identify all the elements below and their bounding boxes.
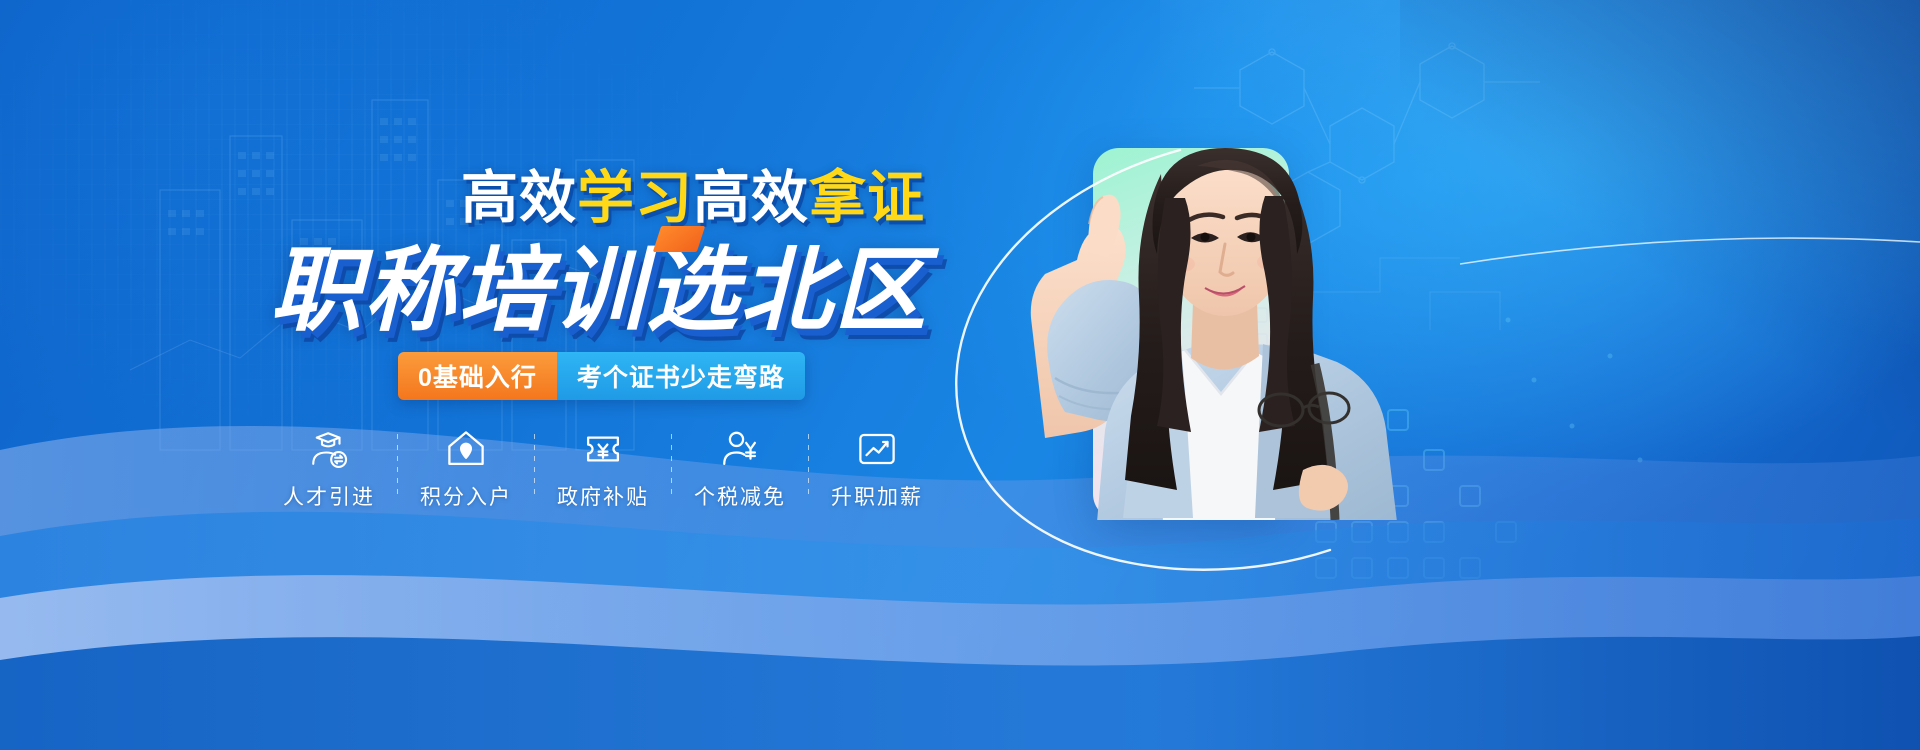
graduate-exchange-icon xyxy=(308,428,350,470)
orange-accent-mark xyxy=(653,226,705,252)
model-photo xyxy=(985,78,1405,538)
feature-label-4: 升职加薪 xyxy=(831,481,923,511)
growth-chart-icon xyxy=(856,428,898,470)
copy-block: 高效学习高效拿证 职称培训选北区 0基础入行 考个证书少走弯路 xyxy=(0,0,1000,750)
feature-divider-0 xyxy=(397,434,398,500)
feature-divider-1 xyxy=(534,434,535,500)
feature-item-2[interactable]: 政府补贴 xyxy=(536,428,670,511)
feature-label-3: 个税减免 xyxy=(694,481,786,511)
feature-label-0: 人才引进 xyxy=(283,481,375,511)
badge-primary: 0基础入行 xyxy=(398,352,557,400)
feature-item-3[interactable]: 个税减免 xyxy=(673,428,807,511)
feature-divider-3 xyxy=(808,434,809,500)
feature-item-4[interactable]: 升职加薪 xyxy=(810,428,944,511)
home-location-icon xyxy=(445,428,487,470)
feature-item-1[interactable]: 积分入户 xyxy=(399,428,533,511)
headline-main: 职称培训选北区 xyxy=(0,216,928,349)
tagline-badge: 0基础入行 考个证书少走弯路 xyxy=(398,352,805,400)
ticket-rmb-icon xyxy=(582,428,624,470)
feature-divider-2 xyxy=(671,434,672,500)
feature-row: 人才引进 积分入户 xyxy=(262,428,944,511)
badge-secondary: 考个证书少走弯路 xyxy=(557,352,805,400)
horizon-line xyxy=(1460,220,1920,280)
feature-item-0[interactable]: 人才引进 xyxy=(262,428,396,511)
person-yen-icon xyxy=(719,428,761,470)
feature-label-2: 政府补贴 xyxy=(557,481,649,511)
feature-label-1: 积分入户 xyxy=(420,481,512,511)
promo-banner: 高效学习高效拿证 职称培训选北区 0基础入行 考个证书少走弯路 xyxy=(0,0,1920,750)
